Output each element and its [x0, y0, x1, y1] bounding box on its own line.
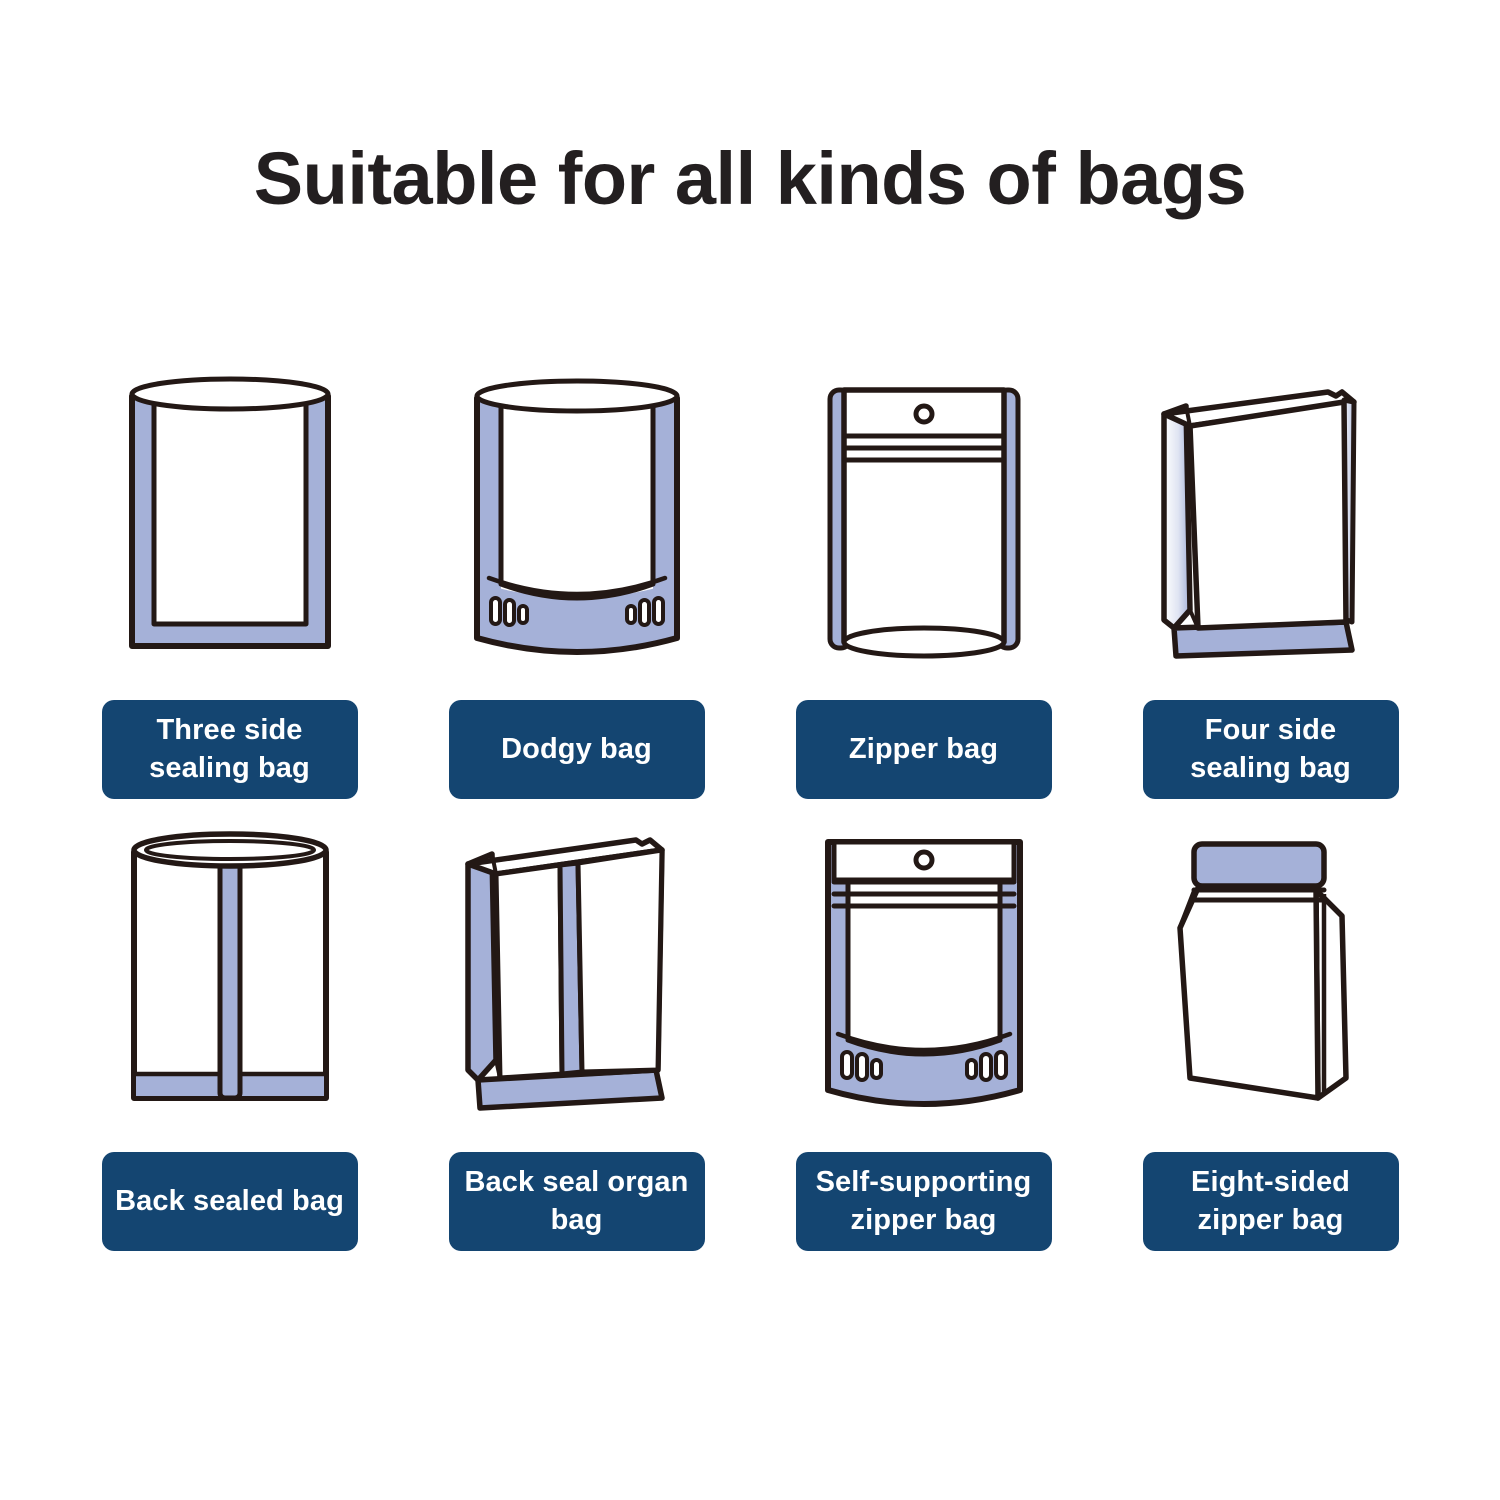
bag-card-self-supporting-zipper-bag[interactable]: Self-supporting zipper bag: [750, 820, 1097, 1270]
bag-card-back-sealed-bag[interactable]: Back sealed bag: [56, 820, 403, 1270]
bag-card-zipper-bag[interactable]: Zipper bag: [750, 370, 1097, 820]
eight-sided-zipper-bag-illustration: [1097, 820, 1444, 1150]
bag-label-back-sealed-bag: Back sealed bag: [102, 1152, 358, 1251]
bag-label-dodgy-bag: Dodgy bag: [449, 700, 705, 799]
bag-types-grid: Three side sealing bag: [56, 370, 1444, 1270]
bag-label-four-side-sealing-bag: Four side sealing bag: [1143, 700, 1399, 799]
back-seal-organ-bag-illustration: [403, 820, 750, 1150]
bag-types-poster: Suitable for all kinds of bags Three sid…: [0, 0, 1500, 1500]
bag-card-four-side-sealing-bag[interactable]: Four side sealing bag: [1097, 370, 1444, 820]
back-sealed-bag-illustration: [56, 820, 403, 1150]
bag-card-dodgy-bag[interactable]: Dodgy bag: [403, 370, 750, 820]
bag-card-eight-sided-zipper-bag[interactable]: Eight-sided zipper bag: [1097, 820, 1444, 1270]
bag-card-three-side-sealing-bag[interactable]: Three side sealing bag: [56, 370, 403, 820]
dodgy-bag-illustration: [403, 370, 750, 700]
self-supporting-zipper-bag-illustration: [750, 820, 1097, 1150]
page-title: Suitable for all kinds of bags: [0, 142, 1500, 216]
zipper-bag-illustration: [750, 370, 1097, 700]
bag-label-zipper-bag: Zipper bag: [796, 700, 1052, 799]
bag-label-back-seal-organ-bag: Back seal organ bag: [449, 1152, 705, 1251]
bag-label-three-side-sealing-bag: Three side sealing bag: [102, 700, 358, 799]
bag-label-eight-sided-zipper-bag: Eight-sided zipper bag: [1143, 1152, 1399, 1251]
bag-label-self-supporting-zipper-bag: Self-supporting zipper bag: [796, 1152, 1052, 1251]
bag-card-back-seal-organ-bag[interactable]: Back seal organ bag: [403, 820, 750, 1270]
four-side-sealing-bag-illustration: [1097, 370, 1444, 700]
three-side-sealing-bag-illustration: [56, 370, 403, 700]
